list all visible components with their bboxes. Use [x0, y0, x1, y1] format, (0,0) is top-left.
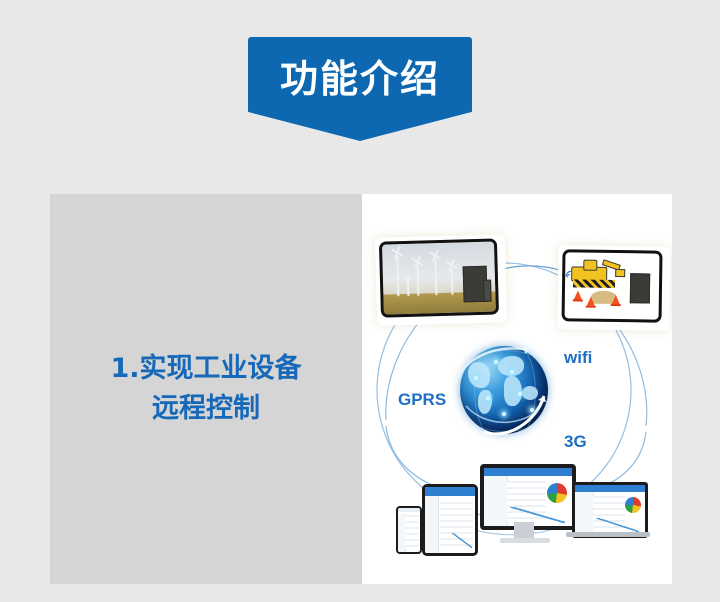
wind-turbine-icon — [417, 265, 420, 295]
photo-frame — [379, 238, 499, 317]
smartphone[interactable] — [396, 506, 422, 554]
traffic-cone-icon — [587, 297, 595, 306]
traffic-cone-icon — [574, 290, 582, 299]
feature-heading-line1: 1.实现工业设备 — [110, 349, 301, 390]
feature-image-panel: GPRS wifi 3G — [362, 194, 672, 584]
warning-barrier-icon — [573, 279, 615, 288]
excavator-bucket-icon — [615, 269, 625, 277]
feature-heading-line2: 远程控制 — [110, 389, 301, 430]
traffic-cone-icon — [612, 295, 620, 304]
laptop[interactable] — [572, 482, 648, 538]
feature-heading: 1.实现工业设备 远程控制 — [110, 349, 301, 430]
label-gprs: GPRS — [398, 390, 446, 410]
laptop-base — [566, 532, 650, 537]
wind-turbine-icon — [451, 268, 454, 294]
photo-frame — [562, 249, 663, 322]
imac-stand — [514, 522, 534, 538]
construction-site-photo[interactable] — [557, 245, 670, 331]
label-wifi: wifi — [564, 348, 592, 368]
device-cluster — [384, 460, 650, 570]
excavator-cab-icon — [583, 260, 597, 271]
feature-row: 1.实现工业设备 远程控制 — [50, 194, 672, 584]
label-3g: 3G — [564, 432, 587, 452]
desktop-imac[interactable] — [480, 464, 576, 530]
feature-text-panel: 1.实现工业设备 远程控制 — [50, 194, 362, 584]
globe-orbit-arrows — [454, 340, 554, 440]
wireless-signal-icon — [565, 268, 573, 278]
traffic-cone-base — [586, 306, 596, 308]
cabinet-side — [483, 280, 492, 302]
traffic-cone-base — [573, 299, 583, 301]
control-cabinet-icon — [630, 273, 650, 303]
globe — [454, 340, 554, 440]
network-diagram: GPRS wifi 3G — [362, 194, 672, 584]
wind-farm-site-photo[interactable] — [375, 234, 507, 326]
tablet[interactable] — [422, 484, 478, 556]
traffic-cone-base — [611, 304, 621, 306]
imac-foot — [500, 538, 550, 543]
page-title: 功能介绍 — [248, 37, 472, 113]
wind-turbine-icon — [407, 280, 409, 296]
section-banner: 功能介绍 — [248, 37, 472, 141]
